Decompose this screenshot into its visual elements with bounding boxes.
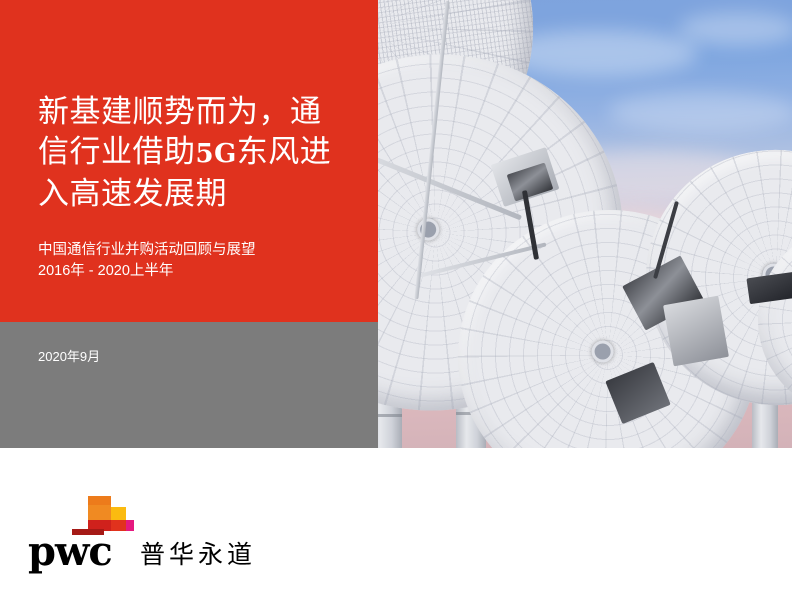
subtitle-line-2: 2016年 - 2020上半年: [38, 263, 173, 279]
title-line-3: 入高速发展期: [38, 176, 227, 212]
subtitle-line-1: 中国通信行业并购活动回顾与展望: [38, 242, 256, 258]
pwc-chinese-name: 普华永道: [140, 540, 256, 570]
subtitle: 中国通信行业并购活动回顾与展望2016年 - 2020上半年: [38, 240, 368, 282]
cloud-shape: [678, 12, 792, 46]
publication-date: 2020年9月: [38, 348, 100, 366]
dish-mount: [663, 296, 729, 367]
presentation-title-slide: 新基建顺势而为，通信行业借助5G东风进入高速发展期 中国通信行业并购活动回顾与展…: [0, 0, 792, 612]
logo-block-red-mid: [111, 520, 126, 531]
title-red-panel: 新基建顺势而为，通信行业借助5G东风进入高速发展期 中国通信行业并购活动回顾与展…: [0, 0, 378, 322]
pwc-logo: pwc 普华永道: [28, 493, 258, 583]
satellite-dish-photo: [378, 0, 792, 448]
slide-footer: pwc 普华永道: [0, 448, 792, 612]
title-line-2-part-a: 信行业借助: [38, 134, 196, 170]
title-line-2-part-b: 东风进: [237, 134, 332, 170]
title-line-2-5g: 5G: [196, 139, 237, 169]
page-title: 新基建顺势而为，通信行业借助5G东风进入高速发展期: [38, 92, 364, 214]
title-line-1: 新基建顺势而为，通: [38, 94, 322, 130]
cloud-shape: [608, 92, 792, 132]
pwc-wordmark: pwc: [28, 529, 112, 575]
date-gray-panel: 2020年9月: [0, 322, 378, 448]
logo-block-magenta: [126, 520, 134, 531]
